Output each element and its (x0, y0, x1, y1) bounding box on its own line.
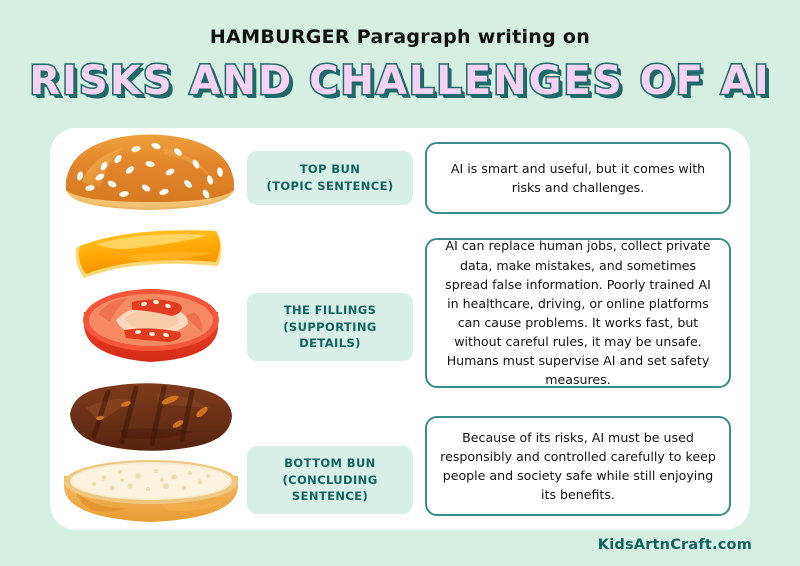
textbox-concluding-sentence-text: Because of its risks, AI must be used re… (439, 428, 717, 505)
page-title: RISKS AND CHALLENGES OF AI (0, 60, 800, 102)
content-card: TOP BUN (TOPIC SENTENCE) THE FILLINGS (S… (50, 128, 750, 530)
textbox-supporting-details-text: AI can replace human jobs, collect priva… (439, 236, 717, 389)
brand-watermark: KidsArtnCraft.com (598, 537, 752, 553)
textbox-topic-sentence-text: AI is smart and useful, but it comes wit… (439, 159, 717, 197)
hamburger-illustration (50, 128, 250, 530)
label-fillings: THE FILLINGS (SUPPORTING DETAILS) (247, 293, 413, 361)
page-subtitle: HAMBURGER Paragraph writing on (0, 26, 800, 48)
top-bun-icon (60, 132, 240, 220)
textbox-supporting-details: AI can replace human jobs, collect priva… (425, 238, 731, 388)
page-header: HAMBURGER Paragraph writing on RISKS AND… (0, 0, 800, 102)
label-bottom-bun: BOTTOM BUN (CONCLUDING SENTENCE) (247, 446, 413, 514)
label-top-bun: TOP BUN (TOPIC SENTENCE) (247, 151, 413, 205)
tomato-slice-icon (76, 280, 226, 372)
textbox-concluding-sentence: Because of its risks, AI must be used re… (425, 416, 731, 516)
label-fillings-text: THE FILLINGS (SUPPORTING DETAILS) (283, 302, 376, 352)
label-bottom-bun-text: BOTTOM BUN (CONCLUDING SENTENCE) (282, 455, 377, 505)
cheese-slice-icon (66, 222, 238, 286)
bottom-bun-icon (58, 456, 244, 528)
beef-patty-icon (60, 378, 240, 456)
label-top-bun-text: TOP BUN (TOPIC SENTENCE) (266, 161, 393, 194)
textbox-topic-sentence: AI is smart and useful, but it comes wit… (425, 142, 731, 214)
